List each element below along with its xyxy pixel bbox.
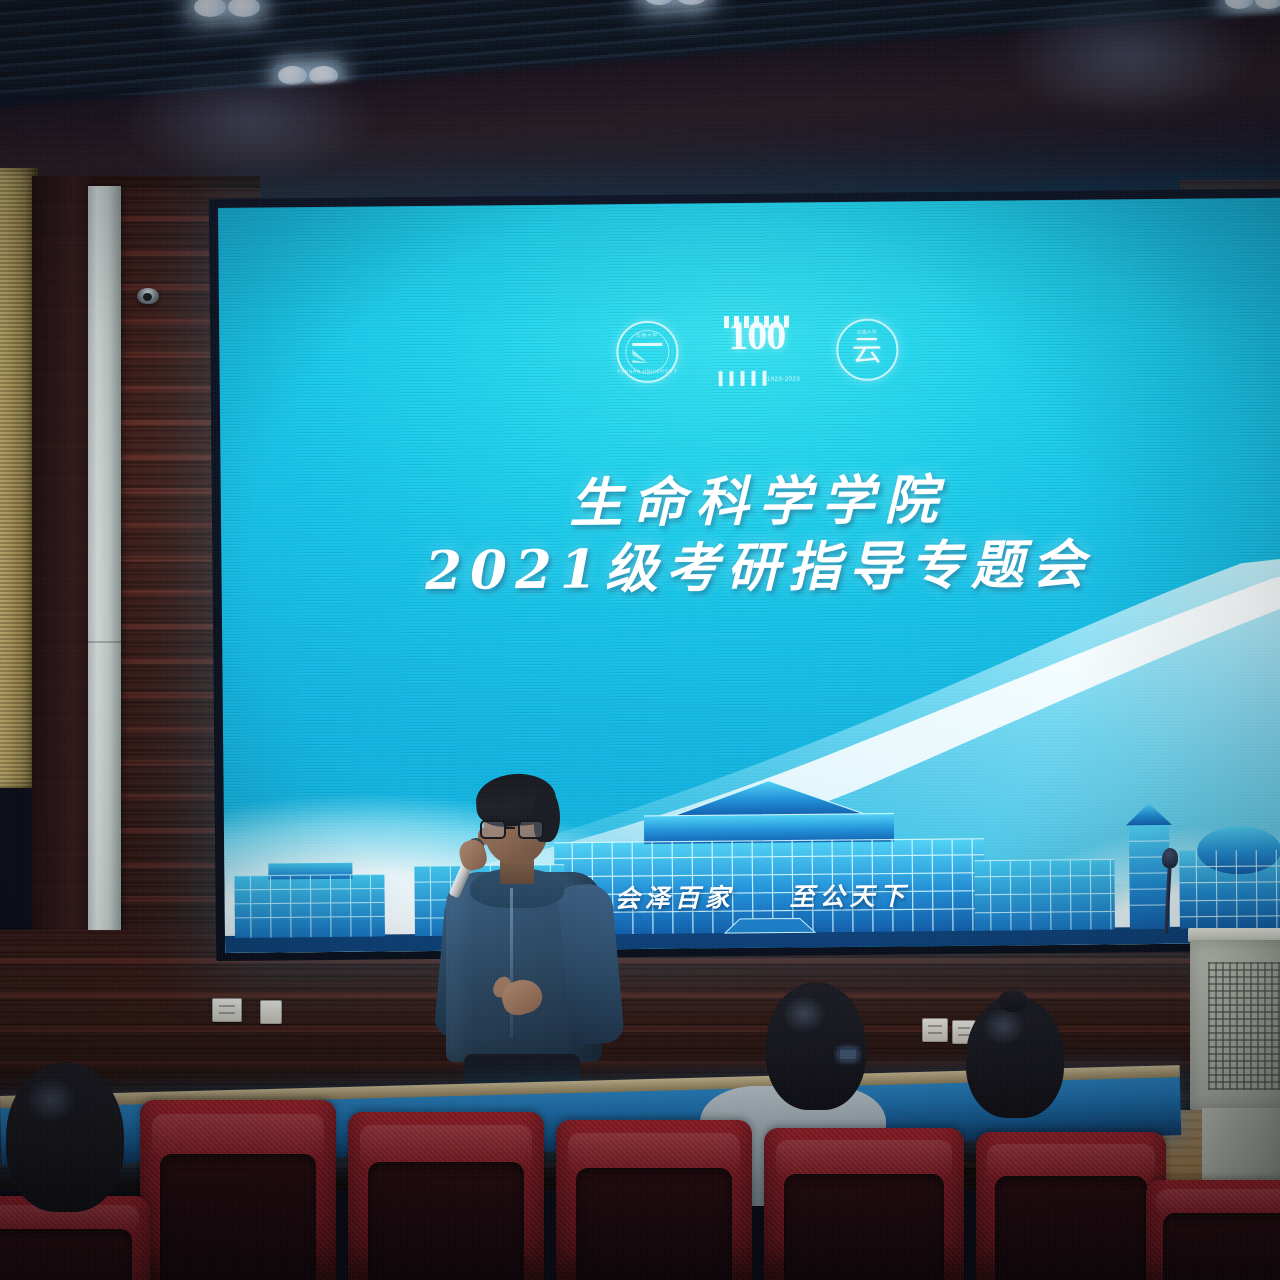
centennial-100-logo: 100 1923-2023: [714, 317, 801, 384]
eyeglasses-icon: [838, 1048, 858, 1061]
centennial-figures-icon: [718, 371, 770, 386]
speaker-grille-icon: [1208, 962, 1280, 1090]
attendee-head: [766, 982, 866, 1110]
slide-title-line2: 2021级考研指导专题会: [221, 535, 1280, 601]
attendee-hair-bun: [998, 990, 1028, 1012]
auditorium-seat[interactable]: [976, 1132, 1166, 1280]
wall-light-glow: [1000, 0, 1260, 120]
seal-ring-top-text: 云南大学: [636, 332, 658, 339]
wall-switch-icon: [260, 1000, 282, 1024]
ceiling-downlight-icon: [190, 0, 264, 22]
auditorium-seat[interactable]: [348, 1112, 544, 1280]
centennial-crenellation-icon: [724, 316, 790, 329]
auditorium-seat[interactable]: [556, 1120, 752, 1280]
auditorium-seat[interactable]: [1146, 1180, 1280, 1280]
eyeglasses-icon: [480, 820, 542, 840]
lectern-front-panel: [1190, 940, 1280, 1110]
motto-right-text: 至公天下: [789, 876, 909, 913]
slide-headline: 生命科学学院 2021级考研指导专题会: [221, 470, 1280, 602]
round-logo-ring-text: 云南大学: [857, 329, 877, 336]
calligraphy-glyph: 云: [852, 337, 882, 367]
wall-outlet-icon: [922, 1018, 948, 1042]
attendee-head: [6, 1062, 124, 1212]
motto-left-text: 会泽百家: [614, 878, 734, 915]
campus-skyline-illustration: [223, 758, 1280, 953]
seal-ring-bottom-text: YUNNAN UNIVERSITY: [617, 369, 678, 376]
wall-light-glow: [120, 60, 380, 180]
security-camera-icon: [137, 288, 159, 304]
university-seal-logo: 云南大学 YUNNAN UNIVERSITY: [616, 321, 679, 384]
calligraphy-round-logo: 云南大学 云: [836, 318, 899, 381]
auditorium-seat[interactable]: [140, 1100, 336, 1280]
wall-outlet-icon: [212, 998, 242, 1022]
presenter-jacket-zip: [510, 888, 513, 1038]
centennial-years: 1923-2023: [767, 376, 800, 382]
attendee-head: [966, 996, 1064, 1118]
presenter-figure: [418, 772, 628, 1117]
slide-logo-row: 云南大学 YUNNAN UNIVERSITY 100 1923-2023 云南大…: [219, 306, 1280, 396]
led-presentation-screen[interactable]: 云南大学 YUNNAN UNIVERSITY 100 1923-2023 云南大…: [218, 198, 1280, 953]
slide-title-line1: 生命科学学院: [221, 470, 1280, 536]
ceiling-downlight-icon: [640, 0, 710, 10]
slide-surface: 云南大学 YUNNAN UNIVERSITY 100 1923-2023 云南大…: [218, 198, 1280, 953]
seal-emblem-icon: [632, 343, 662, 363]
auditorium-photo: 云南大学 YUNNAN UNIVERSITY 100 1923-2023 云南大…: [0, 0, 1280, 1280]
auditorium-seat[interactable]: [764, 1128, 964, 1280]
